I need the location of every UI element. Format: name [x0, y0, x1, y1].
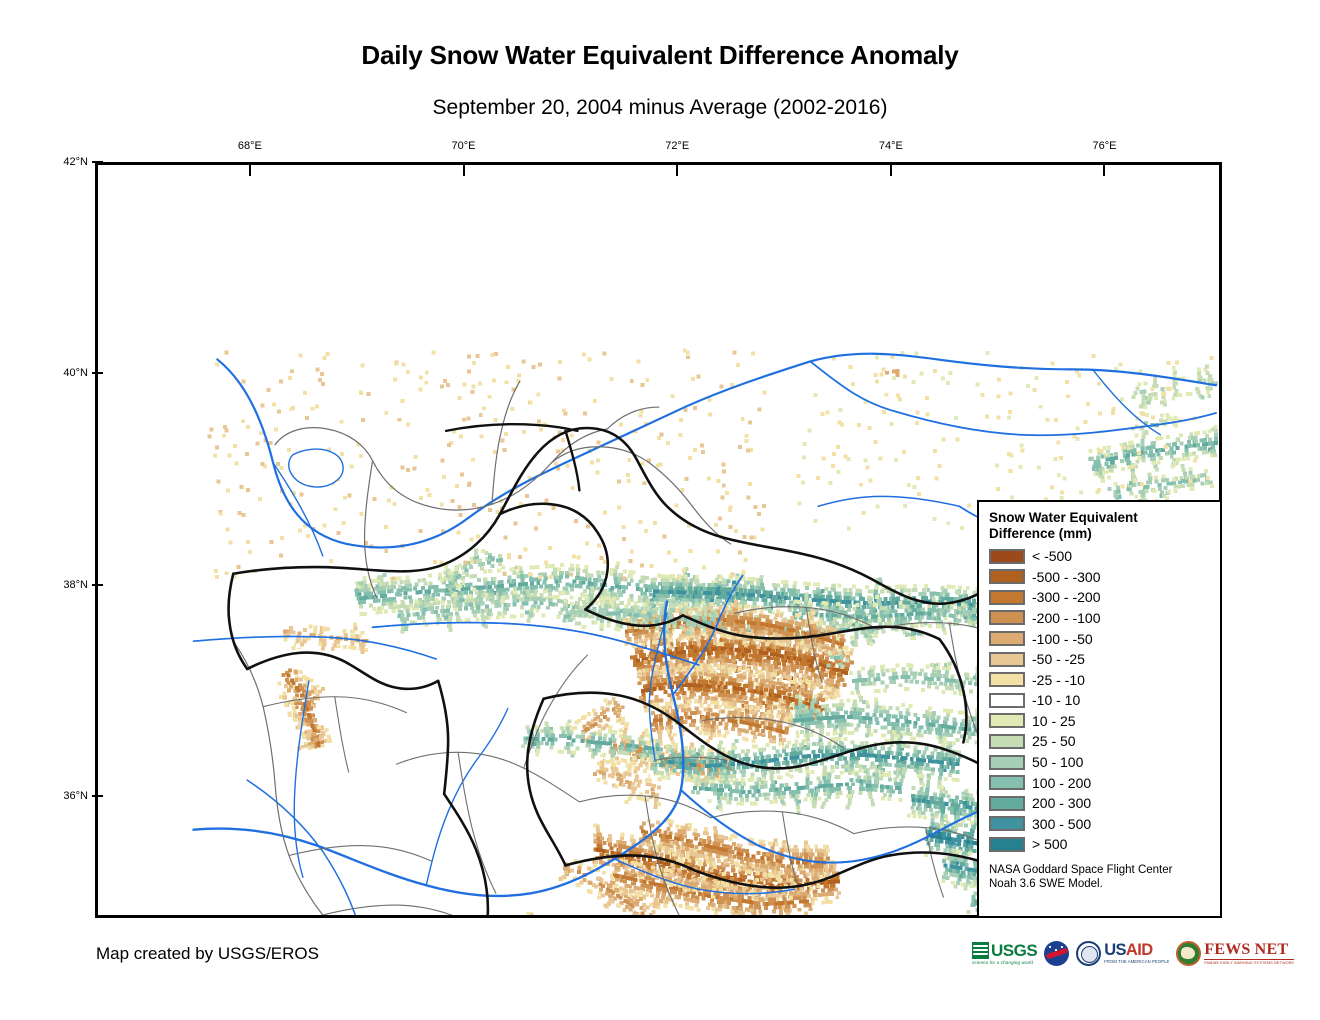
fews-wordmark: FEWS NET — [1204, 942, 1294, 958]
usgs-logo[interactable]: USGS science for a changing world — [972, 938, 1037, 968]
legend-label: 50 - 100 — [1032, 754, 1083, 770]
lat-tick-label: 40°N — [63, 367, 88, 379]
map-author-credit: Map created by USGS/EROS — [96, 944, 319, 964]
lon-tick-mark — [890, 165, 892, 176]
legend-swatch — [989, 816, 1025, 831]
legend-swatch — [989, 631, 1025, 646]
legend-label: > 500 — [1032, 836, 1067, 852]
nasa-meatball-icon — [1044, 941, 1069, 966]
lon-tick-label: 72°E — [665, 140, 689, 152]
legend-row: 50 - 100 — [989, 752, 1210, 773]
legend-swatch — [989, 672, 1025, 687]
usaid-tagline: FROM THE AMERICAN PEOPLE — [1104, 959, 1169, 964]
legend-label: < -500 — [1032, 548, 1072, 564]
legend-label: 10 - 25 — [1032, 713, 1076, 729]
legend-swatch — [989, 713, 1025, 728]
lat-tick-mark — [92, 372, 103, 374]
legend-row: 100 - 200 — [989, 772, 1210, 793]
legend-label: 100 - 200 — [1032, 775, 1091, 791]
legend-row: -200 - -100 — [989, 608, 1210, 629]
legend-row: 300 - 500 — [989, 814, 1210, 835]
legend-row: > 500 — [989, 834, 1210, 855]
legend-row: -300 - -200 — [989, 587, 1210, 608]
usaid-seal-icon — [1076, 941, 1101, 966]
legend-title: Snow Water Equivalent Difference (mm) — [989, 510, 1210, 542]
legend-swatch — [989, 590, 1025, 605]
legend-row: -50 - -25 — [989, 649, 1210, 670]
legend-swatch — [989, 569, 1025, 584]
fews-net-logo[interactable]: FEWS NET FAMINE EARLY WARNING SYSTEMS NE… — [1176, 938, 1294, 968]
legend-label: -200 - -100 — [1032, 610, 1100, 626]
legend-class-list: < -500-500 - -300-300 - -200-200 - -100-… — [989, 546, 1210, 855]
nasa-logo[interactable] — [1044, 938, 1069, 968]
lat-tick-label: 36°N — [63, 790, 88, 802]
legend-swatch — [989, 755, 1025, 770]
usaid-logo[interactable]: USAID FROM THE AMERICAN PEOPLE — [1076, 938, 1169, 968]
usgs-wave-icon — [972, 942, 989, 959]
legend-swatch — [989, 796, 1025, 811]
lon-tick-label: 76°E — [1092, 140, 1116, 152]
legend-swatch — [989, 652, 1025, 667]
fews-tagline: FAMINE EARLY WARNING SYSTEMS NETWORK — [1204, 961, 1294, 965]
lon-tick-mark — [249, 165, 251, 176]
legend-swatch — [989, 775, 1025, 790]
legend-swatch — [989, 610, 1025, 625]
map-legend: Snow Water Equivalent Difference (mm) < … — [977, 500, 1222, 918]
lat-tick-mark — [92, 795, 103, 797]
legend-row: 200 - 300 — [989, 793, 1210, 814]
legend-label: 300 - 500 — [1032, 816, 1091, 832]
legend-credit: NASA Goddard Space Flight Center Noah 3.… — [989, 863, 1210, 892]
usgs-wordmark: USGS — [991, 942, 1037, 959]
lon-tick-mark — [676, 165, 678, 176]
usgs-tagline: science for a changing world — [972, 960, 1033, 965]
legend-label: -50 - -25 — [1032, 651, 1085, 667]
legend-label: -10 - 10 — [1032, 692, 1080, 708]
legend-row: -25 - -10 — [989, 669, 1210, 690]
lat-tick-mark — [92, 161, 103, 163]
legend-row: -500 - -300 — [989, 566, 1210, 587]
legend-swatch — [989, 693, 1025, 708]
legend-label: -100 - -50 — [1032, 631, 1093, 647]
legend-row: -100 - -50 — [989, 628, 1210, 649]
legend-label: 25 - 50 — [1032, 733, 1076, 749]
lat-tick-mark — [92, 584, 103, 586]
legend-label: -25 - -10 — [1032, 672, 1085, 688]
usaid-wordmark: USAID — [1104, 942, 1169, 959]
lon-tick-label: 74°E — [879, 140, 903, 152]
legend-label: 200 - 300 — [1032, 795, 1091, 811]
legend-swatch — [989, 734, 1025, 749]
legend-swatch — [989, 837, 1025, 852]
legend-row: -10 - 10 — [989, 690, 1210, 711]
legend-row: 25 - 50 — [989, 731, 1210, 752]
globe-icon — [1176, 941, 1201, 966]
lon-tick-label: 68°E — [238, 140, 262, 152]
lon-tick-mark — [463, 165, 465, 176]
page-subtitle: September 20, 2004 minus Average (2002-2… — [0, 96, 1320, 120]
lon-tick-label: 70°E — [452, 140, 476, 152]
agency-logo-bar: USGS science for a changing world USAID … — [972, 937, 1294, 969]
lat-tick-label: 42°N — [63, 156, 88, 168]
legend-row: < -500 — [989, 546, 1210, 567]
lat-tick-label: 38°N — [63, 579, 88, 591]
legend-label: -500 - -300 — [1032, 569, 1100, 585]
legend-row: 10 - 25 — [989, 711, 1210, 732]
legend-label: -300 - -200 — [1032, 589, 1100, 605]
page-title: Daily Snow Water Equivalent Difference A… — [0, 40, 1320, 71]
lon-tick-mark — [1103, 165, 1105, 176]
legend-swatch — [989, 549, 1025, 564]
